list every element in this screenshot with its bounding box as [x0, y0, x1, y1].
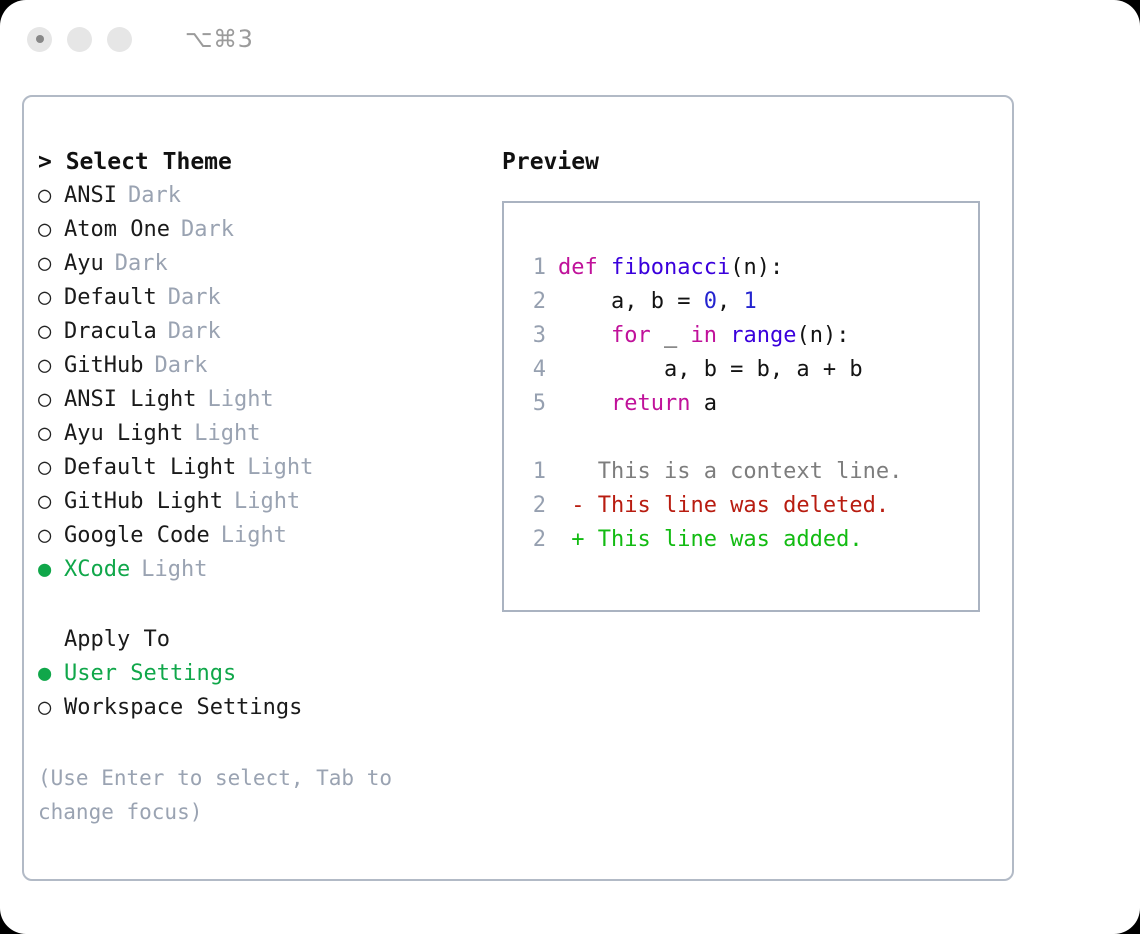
code-token-plain: (n): [796, 323, 849, 348]
diff-line: 2 + This line was added. [518, 523, 978, 557]
content-frame: > Select Theme ○ANSIDark○Atom OneDark○Ay… [22, 95, 1014, 881]
diff-text-ctx: This is a context line. [558, 455, 902, 489]
window-dot-active-icon[interactable] [27, 27, 52, 52]
theme-option-label: Google Code [64, 519, 210, 553]
theme-option-label: Default [64, 281, 157, 315]
radio-unselected-icon: ○ [38, 247, 64, 281]
code-sample: 1def fibonacci(n):2 a, b = 0, 13 for _ i… [518, 251, 978, 421]
code-token-plain: a [690, 391, 717, 416]
radio-unselected-icon: ○ [38, 315, 64, 349]
theme-option-kind: Dark [168, 281, 221, 315]
theme-option-label: Default Light [64, 451, 236, 485]
theme-option-xcode[interactable]: ●XCodeLight [38, 553, 488, 587]
apply-to-heading: Apply To [38, 623, 488, 657]
theme-option-kind: Light [141, 553, 207, 587]
line-number: 2 [518, 523, 546, 557]
theme-list: ○ANSIDark○Atom OneDark○AyuDark○DefaultDa… [38, 179, 488, 587]
code-line: 1def fibonacci(n): [518, 251, 978, 285]
theme-selection-panel: > Select Theme ○ANSIDark○Atom OneDark○Ay… [38, 145, 488, 829]
code-token-plain [717, 323, 730, 348]
preview-heading: Preview [502, 145, 1002, 179]
theme-option-kind: Light [207, 383, 273, 417]
code-token-fn: fibonacci [611, 255, 730, 280]
radio-selected-icon: ● [38, 553, 64, 587]
line-number: 3 [518, 319, 546, 353]
code-line: 4 a, b = b, a + b [518, 353, 978, 387]
code-token-fn: range [730, 323, 796, 348]
radio-unselected-icon: ○ [38, 417, 64, 451]
code-text: return a [558, 387, 717, 421]
code-token-num: 1 [743, 289, 756, 314]
theme-option-dracula[interactable]: ○DraculaDark [38, 315, 488, 349]
code-token-kw: def [558, 255, 611, 280]
theme-option-kind: Light [221, 519, 287, 553]
code-token-plain: , [717, 289, 744, 314]
apply-to-option-label: User Settings [64, 657, 236, 691]
theme-option-kind: Light [194, 417, 260, 451]
code-token-plain: (n): [730, 255, 783, 280]
radio-unselected-icon: ○ [38, 179, 64, 213]
theme-option-github[interactable]: ○GitHubDark [38, 349, 488, 383]
theme-option-label: XCode [64, 553, 130, 587]
line-number: 1 [518, 455, 546, 489]
theme-option-label: Dracula [64, 315, 157, 349]
theme-option-label: Ayu [64, 247, 104, 281]
code-token-plain [558, 391, 611, 416]
apply-to-list: ●User Settings○Workspace Settings [38, 657, 488, 725]
theme-option-ansi-light[interactable]: ○ANSI LightLight [38, 383, 488, 417]
code-token-kw: return [611, 391, 690, 416]
preview-box: 1def fibonacci(n):2 a, b = 0, 13 for _ i… [502, 201, 980, 612]
code-token-plain [558, 323, 611, 348]
theme-option-ayu-light[interactable]: ○Ayu LightLight [38, 417, 488, 451]
apply-to-option-user-settings[interactable]: ●User Settings [38, 657, 488, 691]
theme-option-default[interactable]: ○DefaultDark [38, 281, 488, 315]
code-token-num: 0 [704, 289, 717, 314]
code-token-plain: a, b = b, a + b [558, 357, 863, 382]
code-token-plain: _ [651, 323, 691, 348]
theme-option-label: ANSI [64, 179, 117, 213]
theme-option-kind: Light [247, 451, 313, 485]
line-number: 4 [518, 353, 546, 387]
theme-option-github-light[interactable]: ○GitHub LightLight [38, 485, 488, 519]
line-number: 2 [518, 489, 546, 523]
radio-selected-icon: ● [38, 657, 64, 691]
theme-option-label: Ayu Light [64, 417, 183, 451]
code-line: 2 a, b = 0, 1 [518, 285, 978, 319]
theme-option-label: Atom One [64, 213, 170, 247]
apply-to-panel: Apply To ●User Settings○Workspace Settin… [38, 623, 488, 725]
app-window: ⌥⌘3 > Select Theme ○ANSIDark○Atom OneDar… [0, 0, 1140, 934]
radio-unselected-icon: ○ [38, 281, 64, 315]
code-text: def fibonacci(n): [558, 251, 783, 285]
theme-option-label: ANSI Light [64, 383, 196, 417]
code-line: 3 for _ in range(n): [518, 319, 978, 353]
theme-option-kind: Dark [115, 247, 168, 281]
title-bar: ⌥⌘3 [0, 0, 1140, 78]
keyboard-hint-text: (Use Enter to select, Tab to change focu… [38, 761, 453, 829]
code-text: a, b = 0, 1 [558, 285, 757, 319]
line-number: 1 [518, 251, 546, 285]
diff-text-del: - This line was deleted. [558, 489, 889, 523]
apply-to-option-workspace-settings[interactable]: ○Workspace Settings [38, 691, 488, 725]
select-theme-heading: > Select Theme [38, 145, 488, 179]
diff-text-add: + This line was added. [558, 523, 863, 557]
keyboard-shortcut-label: ⌥⌘3 [185, 25, 253, 53]
diff-sample: 1 This is a context line.2 - This line w… [518, 455, 978, 557]
diff-line: 1 This is a context line. [518, 455, 978, 489]
theme-option-default-light[interactable]: ○Default LightLight [38, 451, 488, 485]
theme-option-kind: Dark [168, 315, 221, 349]
radio-unselected-icon: ○ [38, 691, 64, 725]
theme-option-ayu[interactable]: ○AyuDark [38, 247, 488, 281]
code-token-kw: in [690, 323, 717, 348]
code-text: for _ in range(n): [558, 319, 849, 353]
theme-option-label: GitHub [64, 349, 143, 383]
diff-line: 2 - This line was deleted. [518, 489, 978, 523]
code-token-kw: for [611, 323, 651, 348]
apply-to-option-label: Workspace Settings [64, 691, 302, 725]
window-dot-icon-2[interactable] [67, 27, 92, 52]
code-token-plain: a, b = [558, 289, 704, 314]
theme-option-kind: Dark [181, 213, 234, 247]
theme-option-kind: Light [234, 485, 300, 519]
radio-unselected-icon: ○ [38, 349, 64, 383]
line-number: 5 [518, 387, 546, 421]
theme-option-google-code[interactable]: ○Google CodeLight [38, 519, 488, 553]
radio-unselected-icon: ○ [38, 451, 64, 485]
radio-unselected-icon: ○ [38, 485, 64, 519]
window-dot-icon-3[interactable] [107, 27, 132, 52]
code-diff-spacer [518, 421, 978, 455]
preview-panel: Preview 1def fibonacci(n):2 a, b = 0, 13… [502, 145, 1002, 612]
code-line: 5 return a [518, 387, 978, 421]
code-text: a, b = b, a + b [558, 353, 863, 387]
radio-unselected-icon: ○ [38, 519, 64, 553]
radio-unselected-icon: ○ [38, 213, 64, 247]
theme-option-label: GitHub Light [64, 485, 223, 519]
theme-option-kind: Dark [154, 349, 207, 383]
line-number: 2 [518, 285, 546, 319]
theme-option-ansi[interactable]: ○ANSIDark [38, 179, 488, 213]
theme-option-kind: Dark [128, 179, 181, 213]
radio-unselected-icon: ○ [38, 383, 64, 417]
theme-option-atom-one[interactable]: ○Atom OneDark [38, 213, 488, 247]
